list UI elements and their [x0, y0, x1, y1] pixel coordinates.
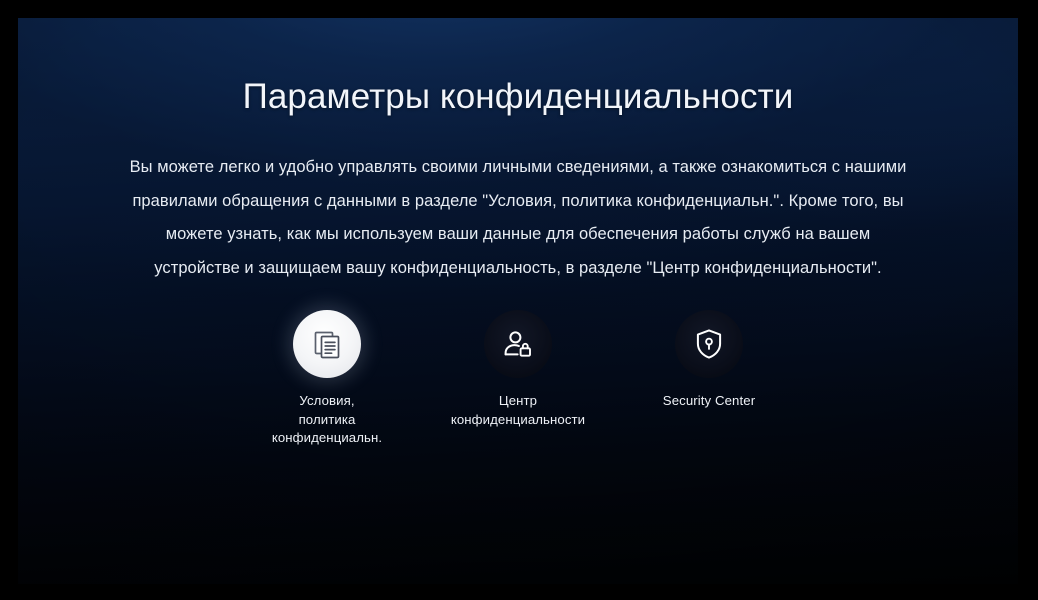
person-lock-icon	[500, 326, 536, 362]
screen-frame: Параметры конфиденциальности Вы можете л…	[0, 0, 1038, 600]
shortcut-label: Условия, политика конфиденциальн.	[272, 392, 382, 448]
description-line-4: устройстве и защищаем вашу конфиденциаль…	[154, 259, 881, 277]
label-line-2: политика	[272, 411, 382, 430]
label-line-1: Security Center	[663, 392, 755, 411]
shortcut-terms-privacy-policy[interactable]: Условия, политика конфиденциальн.	[248, 310, 406, 448]
label-line-1: Условия,	[272, 392, 382, 411]
privacy-description: Вы можете легко и удобно управлять своим…	[123, 151, 913, 285]
shortcut-label: Центр конфиденциальности	[451, 392, 585, 429]
label-line-3: конфиденциальн.	[272, 429, 382, 448]
shortcut-label: Security Center	[663, 392, 755, 411]
label-line-1: Центр	[451, 392, 585, 411]
security-center-button[interactable]	[675, 310, 743, 378]
shortcut-security-center[interactable]: Security Center	[630, 310, 788, 411]
shield-keyhole-icon	[692, 327, 726, 361]
documents-icon	[309, 326, 345, 362]
shortcut-privacy-center[interactable]: Центр конфиденциальности	[439, 310, 597, 429]
panel-content: Параметры конфиденциальности Вы можете л…	[18, 18, 1018, 584]
label-line-2: конфиденциальности	[451, 411, 585, 430]
privacy-center-button[interactable]	[484, 310, 552, 378]
privacy-shortcuts: Условия, политика конфиденциальн.	[248, 310, 788, 448]
page-title: Параметры конфиденциальности	[18, 75, 1018, 119]
privacy-settings-panel: Параметры конфиденциальности Вы можете л…	[18, 18, 1018, 584]
terms-privacy-policy-button[interactable]	[293, 310, 361, 378]
description-line-1: Вы можете легко и удобно управлять своим…	[130, 158, 840, 176]
